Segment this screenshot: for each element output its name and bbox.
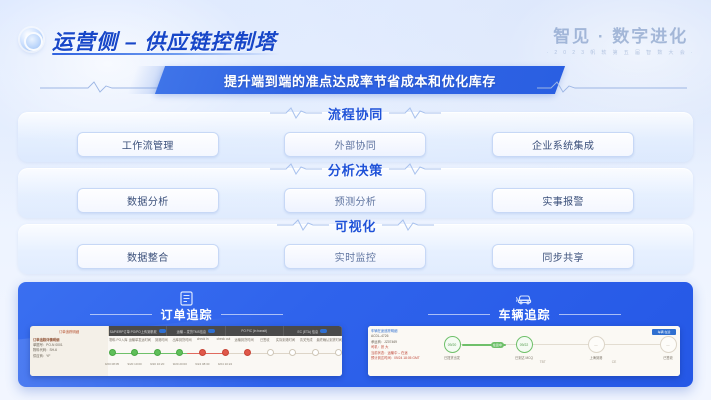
vehicle-node-label: 已到达 MCQ — [515, 355, 533, 360]
timeline-timestamp: 9/24 08:30 — [195, 362, 209, 366]
section-heading: 分析决策 — [18, 159, 693, 179]
column-header: 物料 PO入库 — [108, 337, 129, 343]
column-header: check in — [192, 337, 213, 343]
label-rule-left — [90, 314, 152, 315]
timeline-node[interactable] — [267, 349, 274, 356]
title-underline — [52, 53, 280, 55]
vehicle-timeline-node[interactable]: — — [660, 336, 677, 353]
pulse-decoration-left-icon — [270, 106, 322, 120]
screenshot-timeline: 物料 PO入库 运输单发运时间 到港时间 出库到货时间 check in che… — [108, 336, 342, 376]
tab-label: PO PIC (in transit) — [241, 329, 267, 333]
timeline-node[interactable] — [109, 349, 116, 356]
pulse-decoration-right-icon — [389, 162, 441, 176]
section-panel-visualization: 可视化 数据整合 实时监控 同步共享 — [18, 224, 693, 274]
tab-badge — [320, 329, 327, 333]
timeline-timestamp: 9/20 08:05 — [105, 362, 119, 366]
section-buttons: 工作流管理 外部协同 企业系统集成 — [18, 128, 693, 160]
screenshot-tabbar: 订单追踪明细 SAP/ERP订单 PO/PO上传到帆软 运输 – 发货TMS信息… — [30, 326, 342, 336]
timeline-node[interactable] — [154, 349, 161, 356]
pulse-line-right-icon — [537, 80, 687, 94]
timeline-node[interactable] — [199, 349, 206, 356]
section-title: 可视化 — [335, 216, 376, 235]
section-panel-process: 流程协同 工作流管理 外部协同 企业系统集成 — [18, 112, 693, 162]
header: 运营侧 – 供应链控制塔 智见 · 数字进化 · 2 0 2 3 帆 软 第 五… — [0, 0, 711, 62]
vehicle-screenshot-body: 车辆在途追踪明细 AC01–4726 承运商：JZ07469 司机：张 大 当前… — [368, 326, 680, 376]
button-realtime-alert[interactable]: 实事报警 — [492, 188, 634, 213]
button-enterprise-integration[interactable]: 企业系统集成 — [492, 132, 634, 157]
pulse-decoration-right-icon — [389, 106, 441, 120]
column-header: 运输到货时间 — [234, 337, 255, 343]
pulse-decoration-left-icon — [277, 218, 329, 232]
tab-item: PO PIC (in transit) — [226, 326, 284, 336]
vehicle-node-label: 上海到港 — [590, 355, 603, 360]
timeline-timestamp: 9/20 10:00 — [128, 362, 142, 366]
brand-logo: 智见 · 数字进化 · 2 0 2 3 帆 软 第 五 届 智 数 大 会 · — [546, 22, 695, 56]
showcase-order-tracking: 订单追踪 订单追踪明细 SAP/ERP订单 PO/PO上传到帆软 运输 – 发货… — [18, 282, 355, 387]
detail-line: 预计到达时间：09/24 18:05 GMT — [371, 356, 437, 361]
timeline-timestamp: 9/20 16:20 — [150, 362, 164, 366]
timeline-track — [112, 352, 338, 354]
tab-badge — [159, 329, 166, 333]
column-header: 最终确认到货时间 — [317, 337, 343, 343]
showcase-label-row: 车辆追踪 — [356, 306, 693, 322]
vehicle-timeline: 09/20已提货出发09/22已到达 MCQ—上海到港—已签收在途中TBTCE — [440, 326, 680, 376]
vehicle-segment-label: TBT — [540, 360, 546, 364]
timeline-timestamps: 9/20 08:059/20 10:009/20 16:209/20 20:00… — [112, 362, 338, 368]
timeline-node[interactable] — [176, 349, 183, 356]
column-header: 运输单发运时间 — [129, 337, 151, 343]
label-rule-right — [221, 314, 283, 315]
timeline-timestamp: 9/20 20:00 — [173, 362, 187, 366]
pulse-decoration-right-icon — [382, 218, 434, 232]
tab-label: 运输 – 发货TMS信息 — [177, 329, 206, 334]
timeline-column-headers: 物料 PO入库 运输单发运时间 到港时间 出库到货时间 check in che… — [108, 337, 342, 343]
timeline-node[interactable] — [131, 349, 138, 356]
timeline-timestamp: 9/24 10:24 — [218, 362, 232, 366]
timeline-node[interactable] — [335, 349, 342, 356]
tab-item: 运输 – 发货TMS信息 — [167, 326, 225, 336]
slide-canvas: 运营侧 – 供应链控制塔 智见 · 数字进化 · 2 0 2 3 帆 软 第 五… — [0, 0, 711, 400]
column-header: 实际到港时间 — [275, 337, 296, 343]
section-heading: 流程协同 — [18, 103, 693, 123]
section-buttons: 数据分析 预测分析 实事报警 — [18, 184, 693, 216]
vehicle-node-label: 已签收 — [663, 355, 673, 360]
timeline-node[interactable] — [222, 349, 229, 356]
brand-tagline: · 2 0 2 3 帆 软 第 五 届 智 数 大 会 · — [546, 49, 695, 56]
vehicle-segment-label: CE — [612, 360, 616, 364]
brand-name: 智见 · 数字进化 — [546, 22, 695, 47]
showcase-label: 车辆追踪 — [498, 306, 550, 323]
button-sync-sharing[interactable]: 同步共享 — [492, 244, 634, 269]
column-header: 清关完成 — [296, 337, 317, 343]
page-title: 运营侧 – 供应链控制塔 — [52, 26, 276, 56]
vehicle-status-chip: 在途中 — [491, 342, 504, 348]
column-header: 到港时间 — [151, 337, 172, 343]
tab-item: EC (ETA) 信息 — [284, 326, 342, 336]
vehicle-timeline-node[interactable]: 09/20 — [444, 336, 461, 353]
order-tracking-screenshot[interactable]: 订单追踪明细 SAP/ERP订单 PO/PO上传到帆软 运输 – 发货TMS信息… — [30, 326, 342, 376]
label-rule-right — [559, 314, 621, 315]
timeline-node[interactable] — [289, 349, 296, 356]
section-buttons: 数据整合 实时监控 同步共享 — [18, 240, 693, 272]
banner-text: 提升端到端的准点达成率节省成本和优化库存 — [160, 66, 560, 94]
button-realtime-monitoring[interactable]: 实时监控 — [284, 244, 426, 269]
vehicle-icon — [356, 290, 693, 306]
tab-item: 订单追踪明细 — [30, 326, 109, 336]
tab-badge — [208, 329, 215, 333]
tab-label: 订单追踪明细 — [59, 329, 79, 334]
label-rule-left — [428, 314, 490, 315]
button-predictive-analysis[interactable]: 预测分析 — [284, 188, 426, 213]
tab-item: SAP/ERP订单 PO/PO上传到帆软 — [109, 326, 167, 336]
button-external-collaboration[interactable]: 外部协同 — [284, 132, 426, 157]
button-data-integration[interactable]: 数据整合 — [77, 244, 219, 269]
vehicle-timeline-node[interactable]: — — [588, 336, 605, 353]
screenshot-detail-sidebar: 订单追踪详情明细 单据号：PO-N 0001 物料代码：SH-6 供应商：YF — [30, 336, 108, 376]
banner: 提升端到端的准点达成率节省成本和优化库存 — [0, 66, 711, 96]
timeline-node[interactable] — [312, 349, 319, 356]
column-header: 出库到货时间 — [172, 337, 193, 343]
button-data-analysis[interactable]: 数据分析 — [77, 188, 219, 213]
vehicle-timeline-node[interactable]: 09/22 — [516, 336, 533, 353]
tab-label: SAP/ERP订单 PO/PO上传到帆软 — [110, 329, 157, 334]
section-title: 流程协同 — [328, 104, 383, 123]
document-icon — [18, 290, 355, 306]
showcase-vehicle-tracking: 车辆追踪 车辆在途追踪明细 AC01–4726 承运商：JZ07469 司机：张… — [356, 282, 693, 387]
timeline-node[interactable] — [244, 349, 251, 356]
vehicle-detail-sidebar: 车辆在途追踪明细 AC01–4726 承运商：JZ07469 司机：张 大 当前… — [368, 326, 440, 376]
circle-ring-icon — [20, 28, 43, 51]
showcase-label: 订单追踪 — [160, 306, 212, 323]
vehicle-node-label: 已提货出发 — [444, 355, 460, 360]
detail-line: 供应商：YF — [33, 354, 105, 359]
section-title: 分析决策 — [328, 160, 383, 179]
column-header: 已签收 — [254, 337, 275, 343]
vehicle-tracking-screenshot[interactable]: 车辆在途追踪明细 AC01–4726 承运商：JZ07469 司机：张 大 当前… — [368, 326, 680, 376]
showcase-label-row: 订单追踪 — [18, 306, 355, 322]
section-heading: 可视化 — [18, 215, 693, 235]
column-header: check out — [213, 337, 234, 343]
section-panel-analytics: 分析决策 数据分析 预测分析 实事报警 — [18, 168, 693, 218]
button-workflow-management[interactable]: 工作流管理 — [77, 132, 219, 157]
tab-label: EC (ETA) 信息 — [298, 329, 319, 334]
pulse-decoration-left-icon — [270, 162, 322, 176]
showcase-panel: 订单追踪 订单追踪明细 SAP/ERP订单 PO/PO上传到帆软 运输 – 发货… — [18, 282, 693, 387]
